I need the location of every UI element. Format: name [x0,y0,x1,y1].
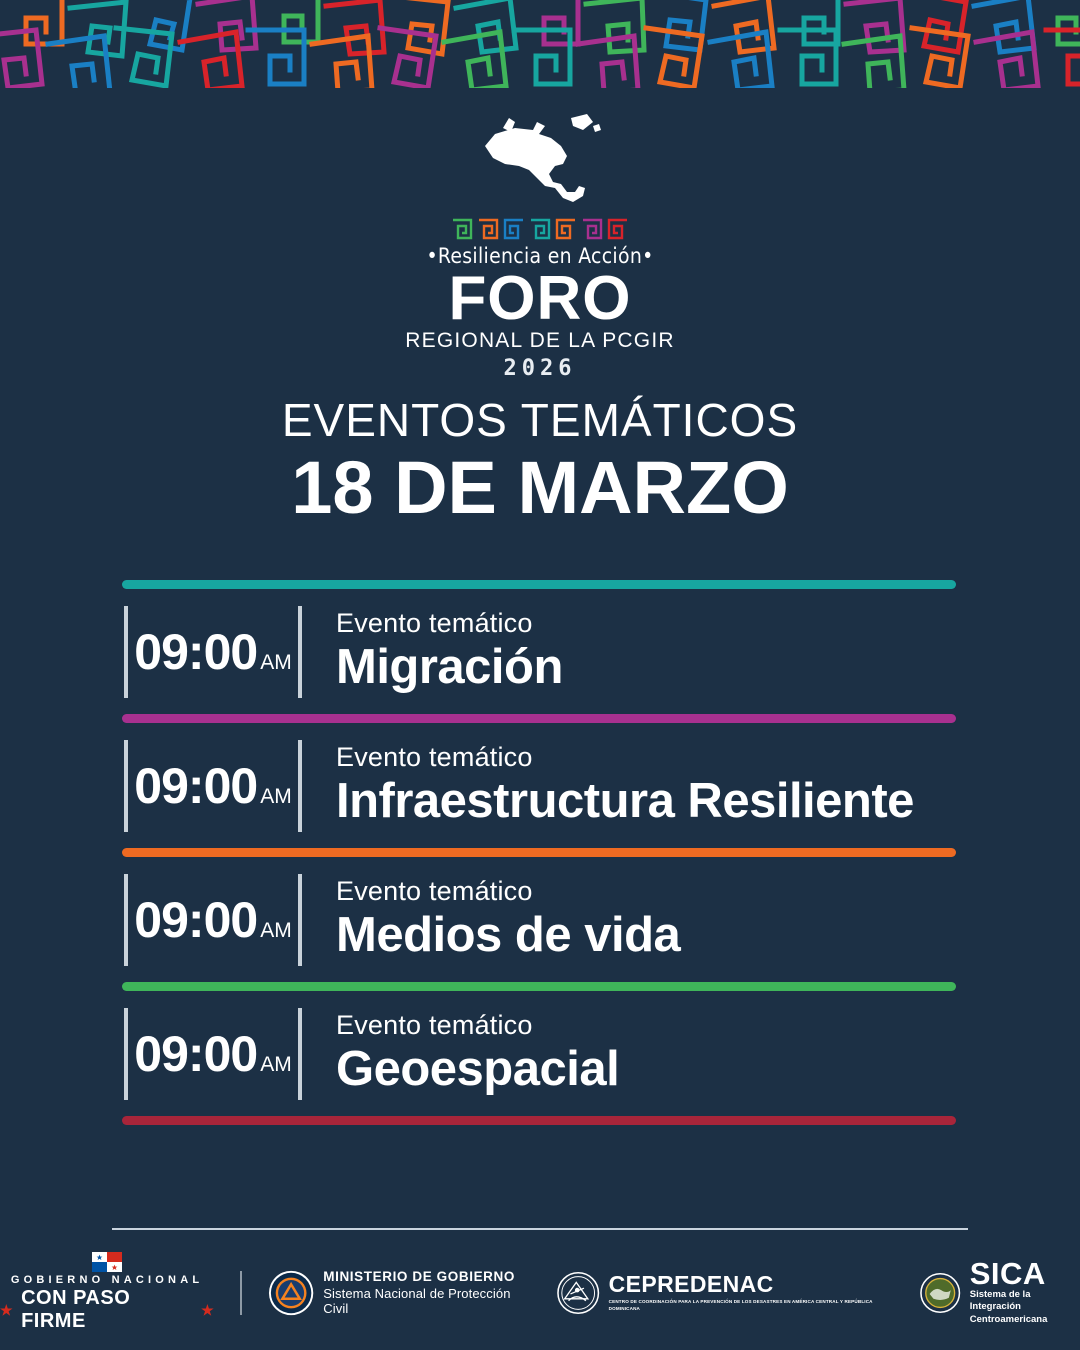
gobierno-line2-wrap: ★ CON PASO FIRME ★ [0,1287,214,1333]
heading-date: 18 DE MARZO [0,448,1080,528]
footer-divider [112,1228,968,1230]
central-america-map-icon [475,112,605,212]
gobierno-line1: GOBIERNO NACIONAL [11,1274,203,1286]
ministerio-line2: Sistema Nacional de Protección Civil [323,1286,531,1316]
star-icon: ★ [0,1302,13,1319]
footer-logos: GOBIERNO NACIONAL ★ CON PASO FIRME ★ MIN… [0,1252,1080,1333]
cepredenac-name: CEPREDENAC [609,1273,895,1296]
schedule-list: 09:00 AM Evento temático Migración 09:00… [122,580,956,1125]
schedule-row[interactable]: 09:00 AM Evento temático Infraestructura… [122,723,956,848]
top-mola-border [0,0,1080,92]
schedule-time: 09:00 [134,627,257,677]
schedule-info: Evento temático Geoespacial [302,1010,619,1097]
cepredenac-subtitle: CENTRO DE COORDINACIÓN PARA LA PREVENCIÓ… [609,1299,895,1313]
cepredenac-seal-icon [557,1271,599,1315]
schedule-meridiem: AM [260,651,292,675]
event-logo: •Resiliencia en Acción• FORO REGIONAL DE… [0,112,1080,381]
footer-logo-separator [240,1271,242,1315]
logo-wordmark: FORO [448,270,631,327]
schedule-row[interactable]: 09:00 AM Evento temático Geoespacial [122,991,956,1116]
sica-seal-icon [920,1272,960,1314]
schedule-row[interactable]: 09:00 AM Evento temático Medios de vida [122,857,956,982]
schedule-row[interactable]: 09:00 AM Evento temático Migración [122,589,956,714]
schedule-meridiem: AM [260,919,292,943]
gobierno-nacional-logo: GOBIERNO NACIONAL ★ CON PASO FIRME ★ [0,1252,214,1333]
logo-subtitle: REGIONAL DE LA PCGIR [405,329,674,353]
logo-year: 2026 [504,356,577,381]
schedule-title: Migración [336,640,563,695]
star-icon: ★ [201,1302,214,1319]
schedule-time-cell: 09:00 AM [124,740,302,832]
schedule-rule [122,1116,956,1125]
schedule-meridiem: AM [260,785,292,809]
schedule-rule [122,982,956,991]
schedule-rule [122,848,956,857]
panama-flag-icon [0,1252,214,1272]
schedule-eyebrow: Evento temático [336,742,914,773]
schedule-time-cell: 09:00 AM [124,874,302,966]
ministerio-gobierno-logo: MINISTERIO DE GOBIERNO Sistema Nacional … [268,1269,531,1317]
schedule-title: Infraestructura Resiliente [336,774,914,829]
schedule-time-cell: 09:00 AM [124,606,302,698]
cepredenac-logo: CEPREDENAC CENTRO DE COORDINACIÓN PARA L… [557,1271,894,1315]
schedule-time: 09:00 [134,761,257,811]
schedule-time: 09:00 [134,1029,257,1079]
sica-line2: Centroamericana [970,1314,1080,1326]
schedule-time: 09:00 [134,895,257,945]
sica-logo: SICA Sistema de la Integración Centroame… [920,1259,1080,1326]
proteccion-civil-seal-icon [268,1269,314,1317]
schedule-rule-top [122,580,956,589]
gobierno-line2: CON PASO FIRME [21,1287,193,1333]
schedule-info: Evento temático Medios de vida [302,876,680,963]
schedule-eyebrow: Evento temático [336,608,563,639]
schedule-meridiem: AM [260,1053,292,1077]
heading-kicker: EVENTOS TEMÁTICOS [0,396,1080,446]
schedule-info: Evento temático Migración [302,608,563,695]
schedule-eyebrow: Evento temático [336,876,680,907]
schedule-time-cell: 09:00 AM [124,1008,302,1100]
schedule-title: Geoespacial [336,1042,619,1097]
schedule-title: Medios de vida [336,908,680,963]
sica-name: SICA [970,1259,1080,1288]
logo-spiral-row [451,218,629,240]
schedule-eyebrow: Evento temático [336,1010,619,1041]
schedule-rule [122,714,956,723]
page-heading: EVENTOS TEMÁTICOS 18 DE MARZO [0,396,1080,528]
sica-line1: Sistema de la Integración [970,1289,1080,1313]
ministerio-line1: MINISTERIO DE GOBIERNO [323,1269,531,1284]
schedule-info: Evento temático Infraestructura Resilien… [302,742,914,829]
